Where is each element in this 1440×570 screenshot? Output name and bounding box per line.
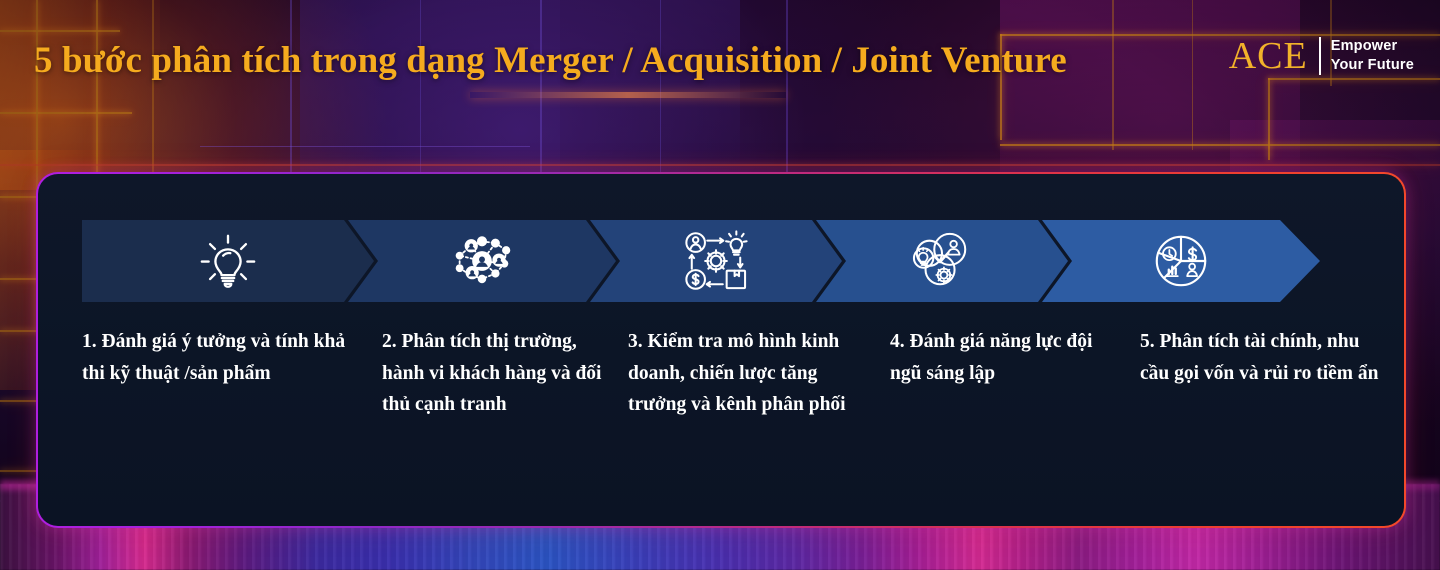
lightbulb-icon [194,230,262,292]
step-caption-4: 4. Đánh giá năng lực đội ngũ sáng lập [890,326,1140,421]
chevron-step-1[interactable] [82,220,374,302]
content-card-border: 1. Đánh giá ý tưởng và tính khả thi kỹ t… [36,172,1406,528]
logo: ACE Empower Your Future [1229,33,1414,79]
header: 5 bước phân tích trong dạng Merger / Acq… [0,0,1440,160]
logo-tagline-line2: Your Future [1331,56,1414,75]
step-caption-1: 1. Đánh giá ý tưởng và tính khả thi kỹ t… [82,326,382,421]
step-caption-5: 5. Phân tích tài chính, nhu cầu gọi vốn … [1140,326,1402,421]
chevron-step-4[interactable] [816,220,1068,302]
people-network-icon [448,230,516,292]
step-caption-2: 2. Phân tích thị trường, hành vi khách h… [382,326,628,421]
chevron-step-3[interactable] [590,220,842,302]
step-captions: 1. Đánh giá ý tưởng và tính khả thi kỹ t… [82,326,1404,421]
step-caption-3: 3. Kiểm tra mô hình kinh doanh, chiến lư… [628,326,890,421]
logo-tagline: Empower Your Future [1331,37,1414,75]
chevron-step-5[interactable] [1042,220,1320,302]
business-model-cycle-icon [682,230,750,292]
logo-divider [1319,37,1321,75]
page-title: 5 bước phân tích trong dạng Merger / Acq… [34,34,1074,88]
process-chevron-bar [82,220,1372,302]
logo-wordmark: ACE [1229,37,1319,75]
venn-team-icon [908,230,976,292]
slide-canvas: 5 bước phân tích trong dạng Merger / Acq… [0,0,1440,570]
logo-tagline-line1: Empower [1331,37,1414,56]
content-card: 1. Đánh giá ý tưởng và tính khả thi kỹ t… [38,174,1404,526]
pie-chart-finance-icon [1147,230,1215,292]
chevron-step-2[interactable] [348,220,616,302]
